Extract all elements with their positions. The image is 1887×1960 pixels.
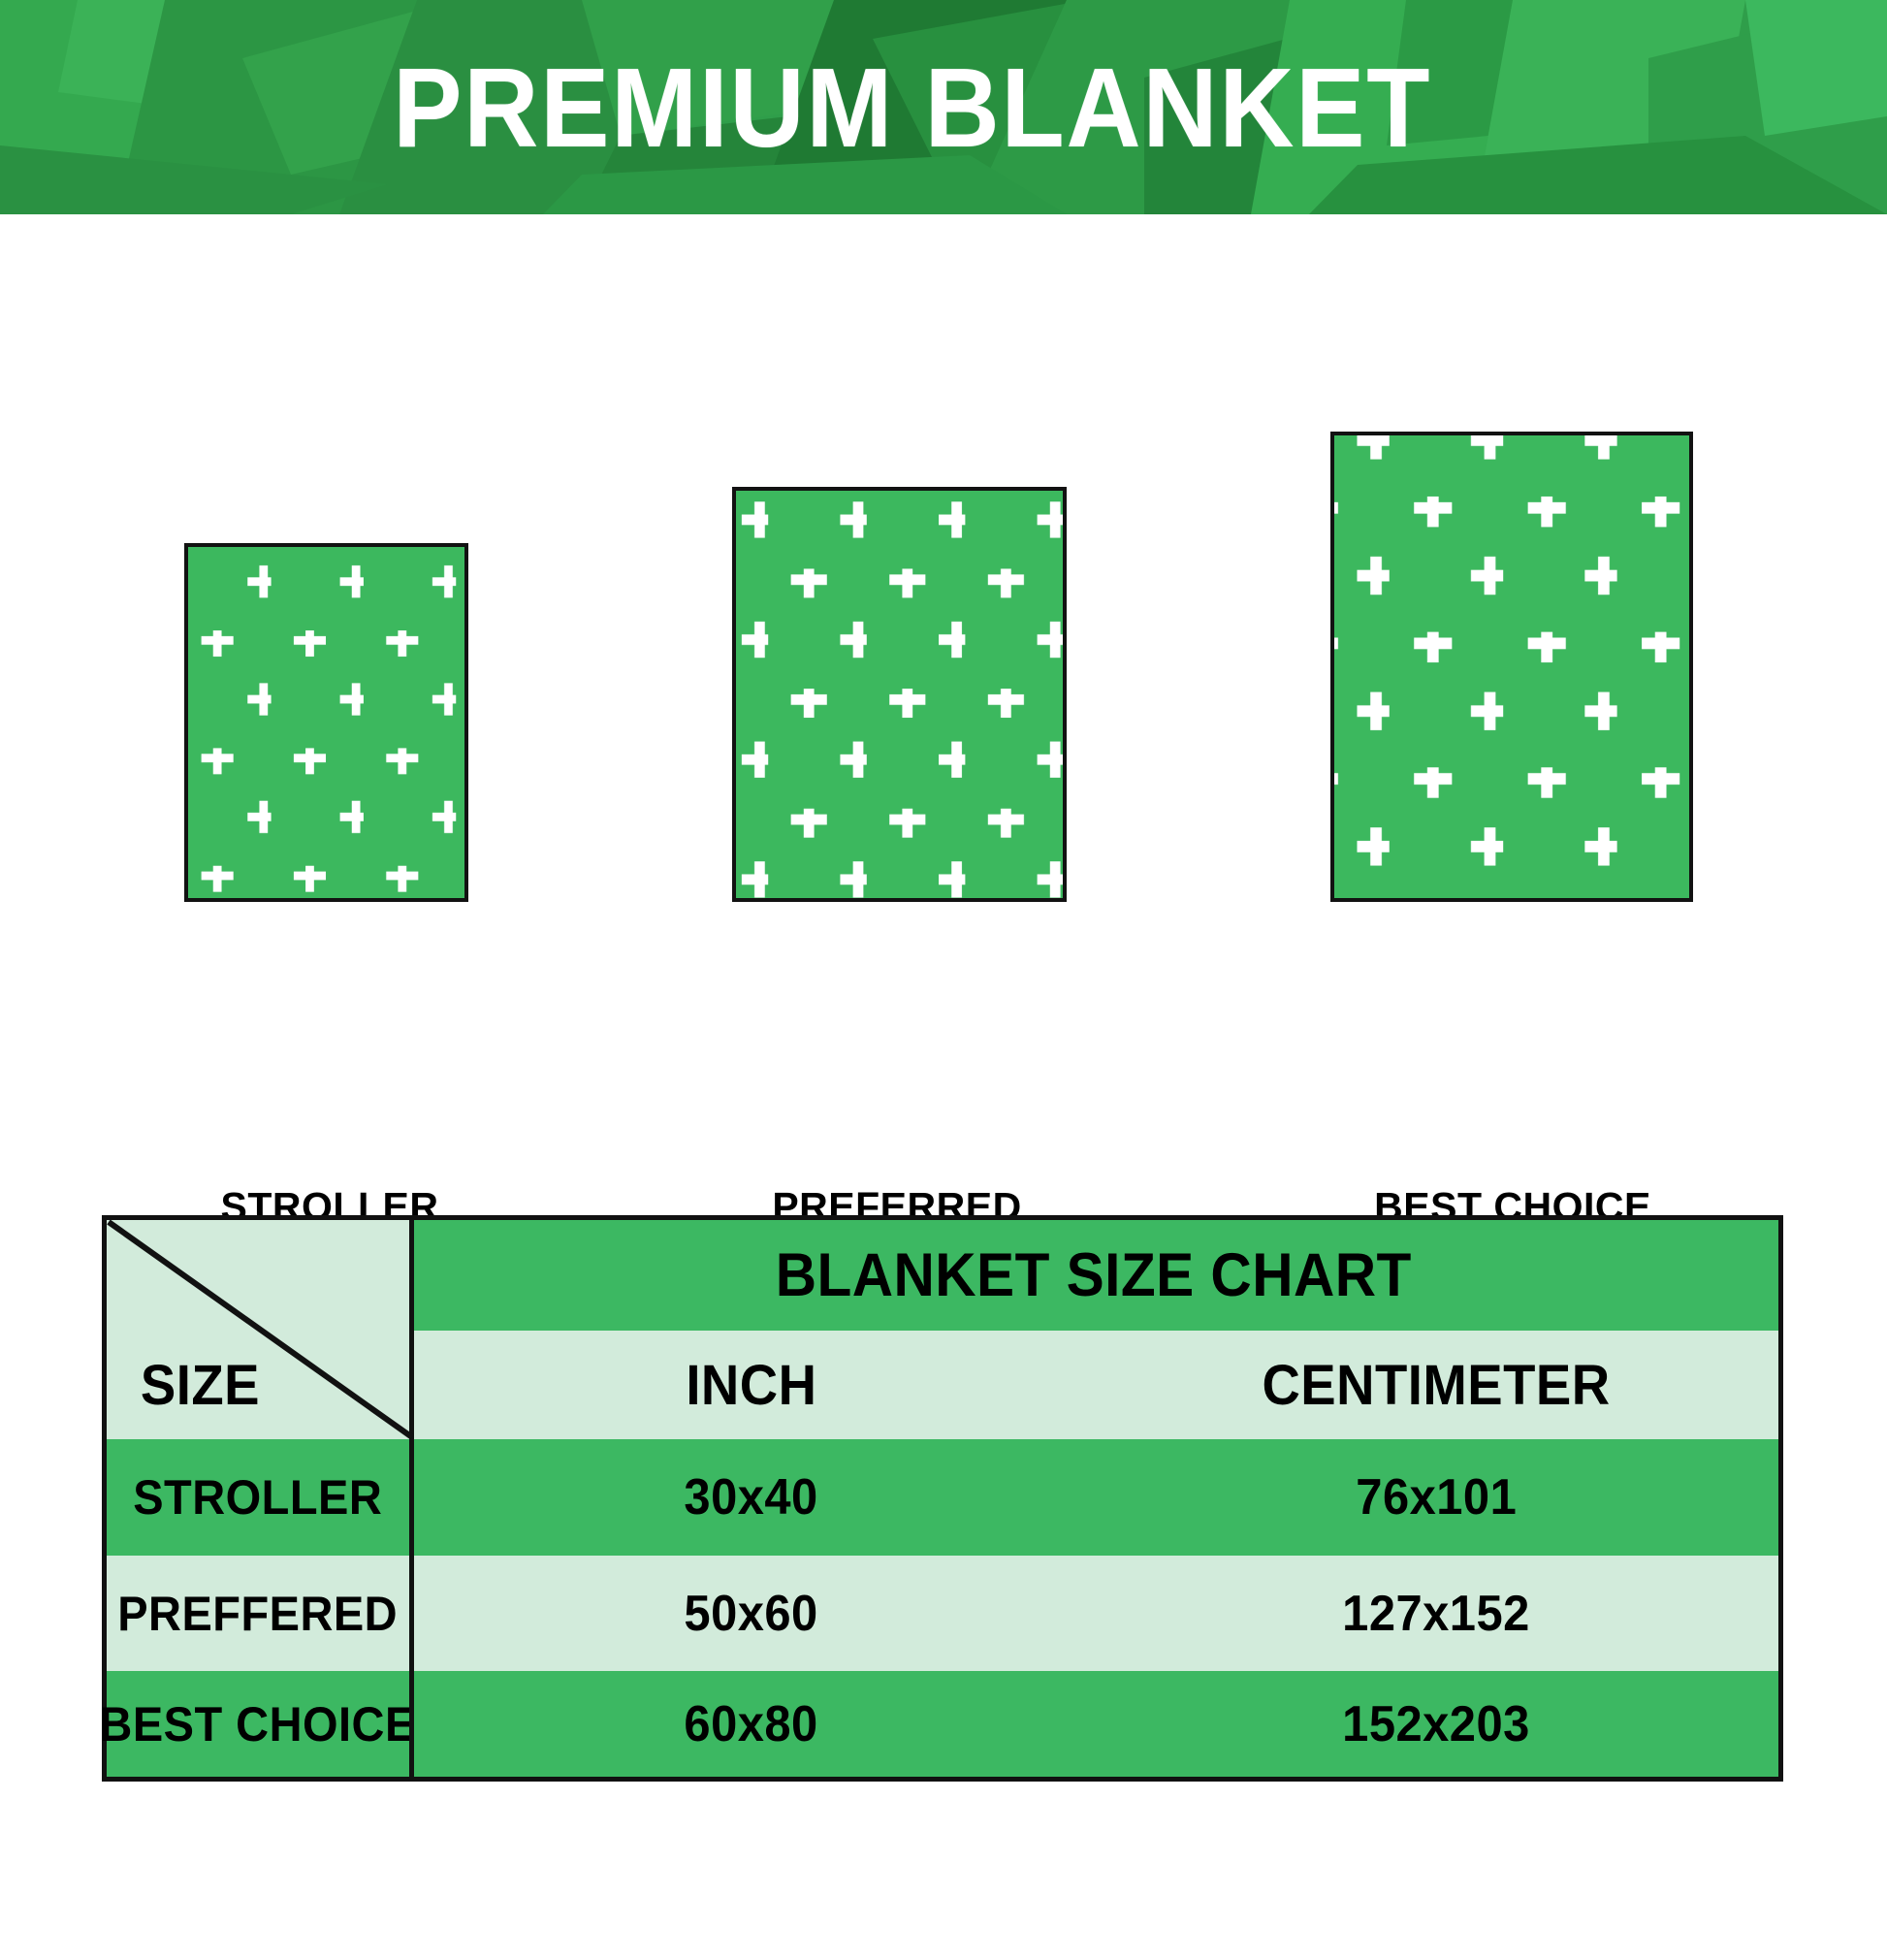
table-header-centimeter-cell: CENTIMETER [1094,1331,1778,1439]
table-cell-inch: 50x60 [409,1556,1094,1671]
table-header-inch-text: INCH [686,1353,816,1418]
plus-cross-pattern-icon [1334,435,1689,898]
table-cell-size-text: PREFFERED [118,1586,399,1642]
table-header-centimeter-text: CENTIMETER [1262,1353,1610,1418]
table-cell-centimeter-text: 127x152 [1342,1585,1530,1643]
blanket-swatch-stroller [184,543,468,902]
table-row: BEST CHOICE 60x80 152x203 [107,1671,1778,1777]
table-cell-inch-text: 60x80 [685,1695,818,1753]
blanket-swatch-preferred [732,487,1067,902]
table-corner-cell [107,1220,409,1331]
blanket-size-chart-table: BLANKET SIZE CHART INCH CENTIMETER STROL… [102,1215,1783,1782]
table-cell-centimeter-text: 152x203 [1342,1695,1530,1753]
table-cell-size: PREFFERED [107,1556,409,1671]
table-cell-centimeter: 152x203 [1094,1671,1778,1777]
table-cell-size-text: STROLLER [133,1469,382,1526]
table-cell-inch-text: 30x40 [685,1468,818,1526]
header-banner: PREMIUM BLANKET [0,0,1887,214]
table-cell-centimeter: 127x152 [1094,1556,1778,1671]
table-title-text: BLANKET SIZE CHART [776,1240,1412,1310]
table-corner-size-label: SIZE [140,1353,259,1418]
table-cell-size-text: BEST CHOICE [100,1696,416,1752]
table-row: STROLLER 30x40 76x101 [107,1439,1778,1556]
table-header-inch-cell: INCH [409,1331,1094,1439]
plus-cross-pattern-icon [736,491,1063,898]
table-cell-centimeter: 76x101 [1094,1439,1778,1556]
table-title-cell: BLANKET SIZE CHART [409,1220,1778,1331]
page-title: PREMIUM BLANKET [76,0,1811,214]
blanket-swatch-row: STROLLER 30” x 40” PREFERRED 50” x 60” [0,214,1887,1145]
table-cell-centimeter-text: 76x101 [1356,1468,1517,1526]
blanket-swatch-bestchoice [1330,432,1693,902]
table-cell-inch: 30x40 [409,1439,1094,1556]
table-cell-inch-text: 50x60 [685,1585,818,1643]
table-corner-size-label-wrap: SIZE [107,1331,409,1439]
table-cell-size: BEST CHOICE [107,1671,409,1777]
table-column-divider [409,1220,414,1777]
table-row: PREFFERED 50x60 127x152 [107,1556,1778,1671]
table-title-row: BLANKET SIZE CHART [107,1220,1778,1331]
plus-cross-pattern-icon [188,547,464,898]
table-cell-inch: 60x80 [409,1671,1094,1777]
table-cell-size: STROLLER [107,1439,409,1556]
